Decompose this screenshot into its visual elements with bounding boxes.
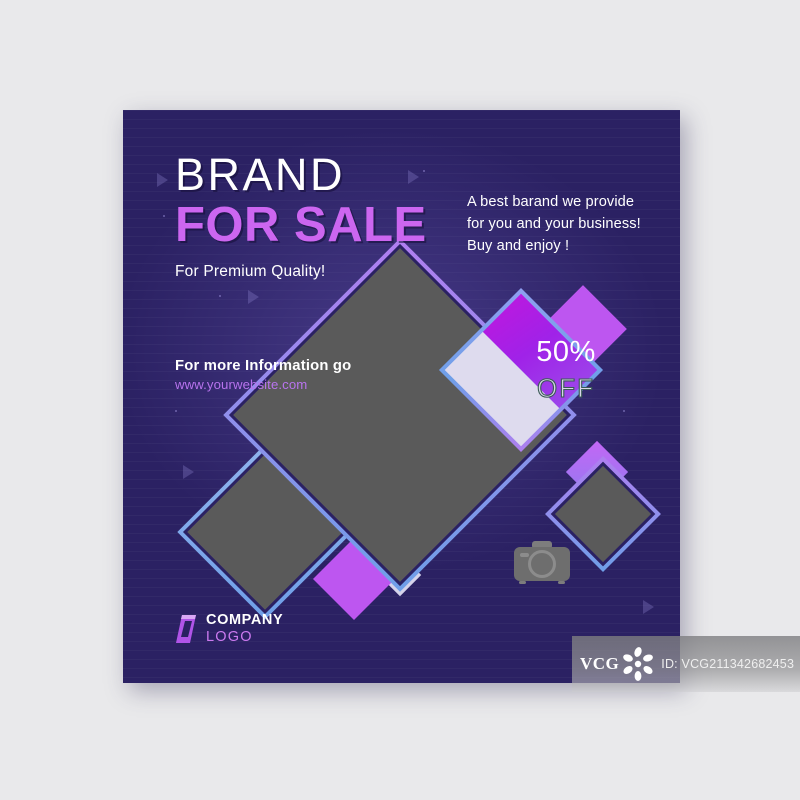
social-media-poster: 50% OFF BRAND FOR SALE For Premium Quali… <box>123 110 680 683</box>
more-info-block: For more Information go www.yourwebsite.… <box>175 358 351 392</box>
camera-icon <box>512 538 572 586</box>
company-logo[interactable]: COMPANY LOGO <box>175 613 283 644</box>
headline-subtitle: For Premium Quality! <box>175 263 427 281</box>
description-line-3: Buy and enjoy ! <box>467 235 641 257</box>
vcg-image-id: ID: VCG211342682453 <box>661 657 794 671</box>
headline-block: BRAND FOR SALE For Premium Quality! <box>175 152 427 281</box>
screenshot-canvas: 50% OFF BRAND FOR SALE For Premium Quali… <box>0 0 800 800</box>
logo-company-text: COMPANY <box>206 613 283 628</box>
description-line-1: A best barand we provide <box>467 191 641 213</box>
logo-word-text: LOGO <box>206 630 283 645</box>
vcg-petal-burst-icon <box>621 647 655 681</box>
website-url[interactable]: www.yourwebsite.com <box>175 377 351 392</box>
vcg-brand-text: VCG <box>580 654 619 674</box>
description-line-2: for you and your business! <box>467 213 641 235</box>
description-paragraph: A best barand we provide for you and you… <box>467 191 641 258</box>
parallelogram-logo-mark-icon <box>175 614 197 644</box>
vcg-watermark: VCG ID: VCG211342682453 <box>572 636 800 692</box>
headline-for-sale: FOR SALE <box>175 200 427 251</box>
headline-brand: BRAND <box>175 152 427 198</box>
more-info-title: For more Information go <box>175 358 351 374</box>
vcg-logo: VCG <box>580 647 655 681</box>
